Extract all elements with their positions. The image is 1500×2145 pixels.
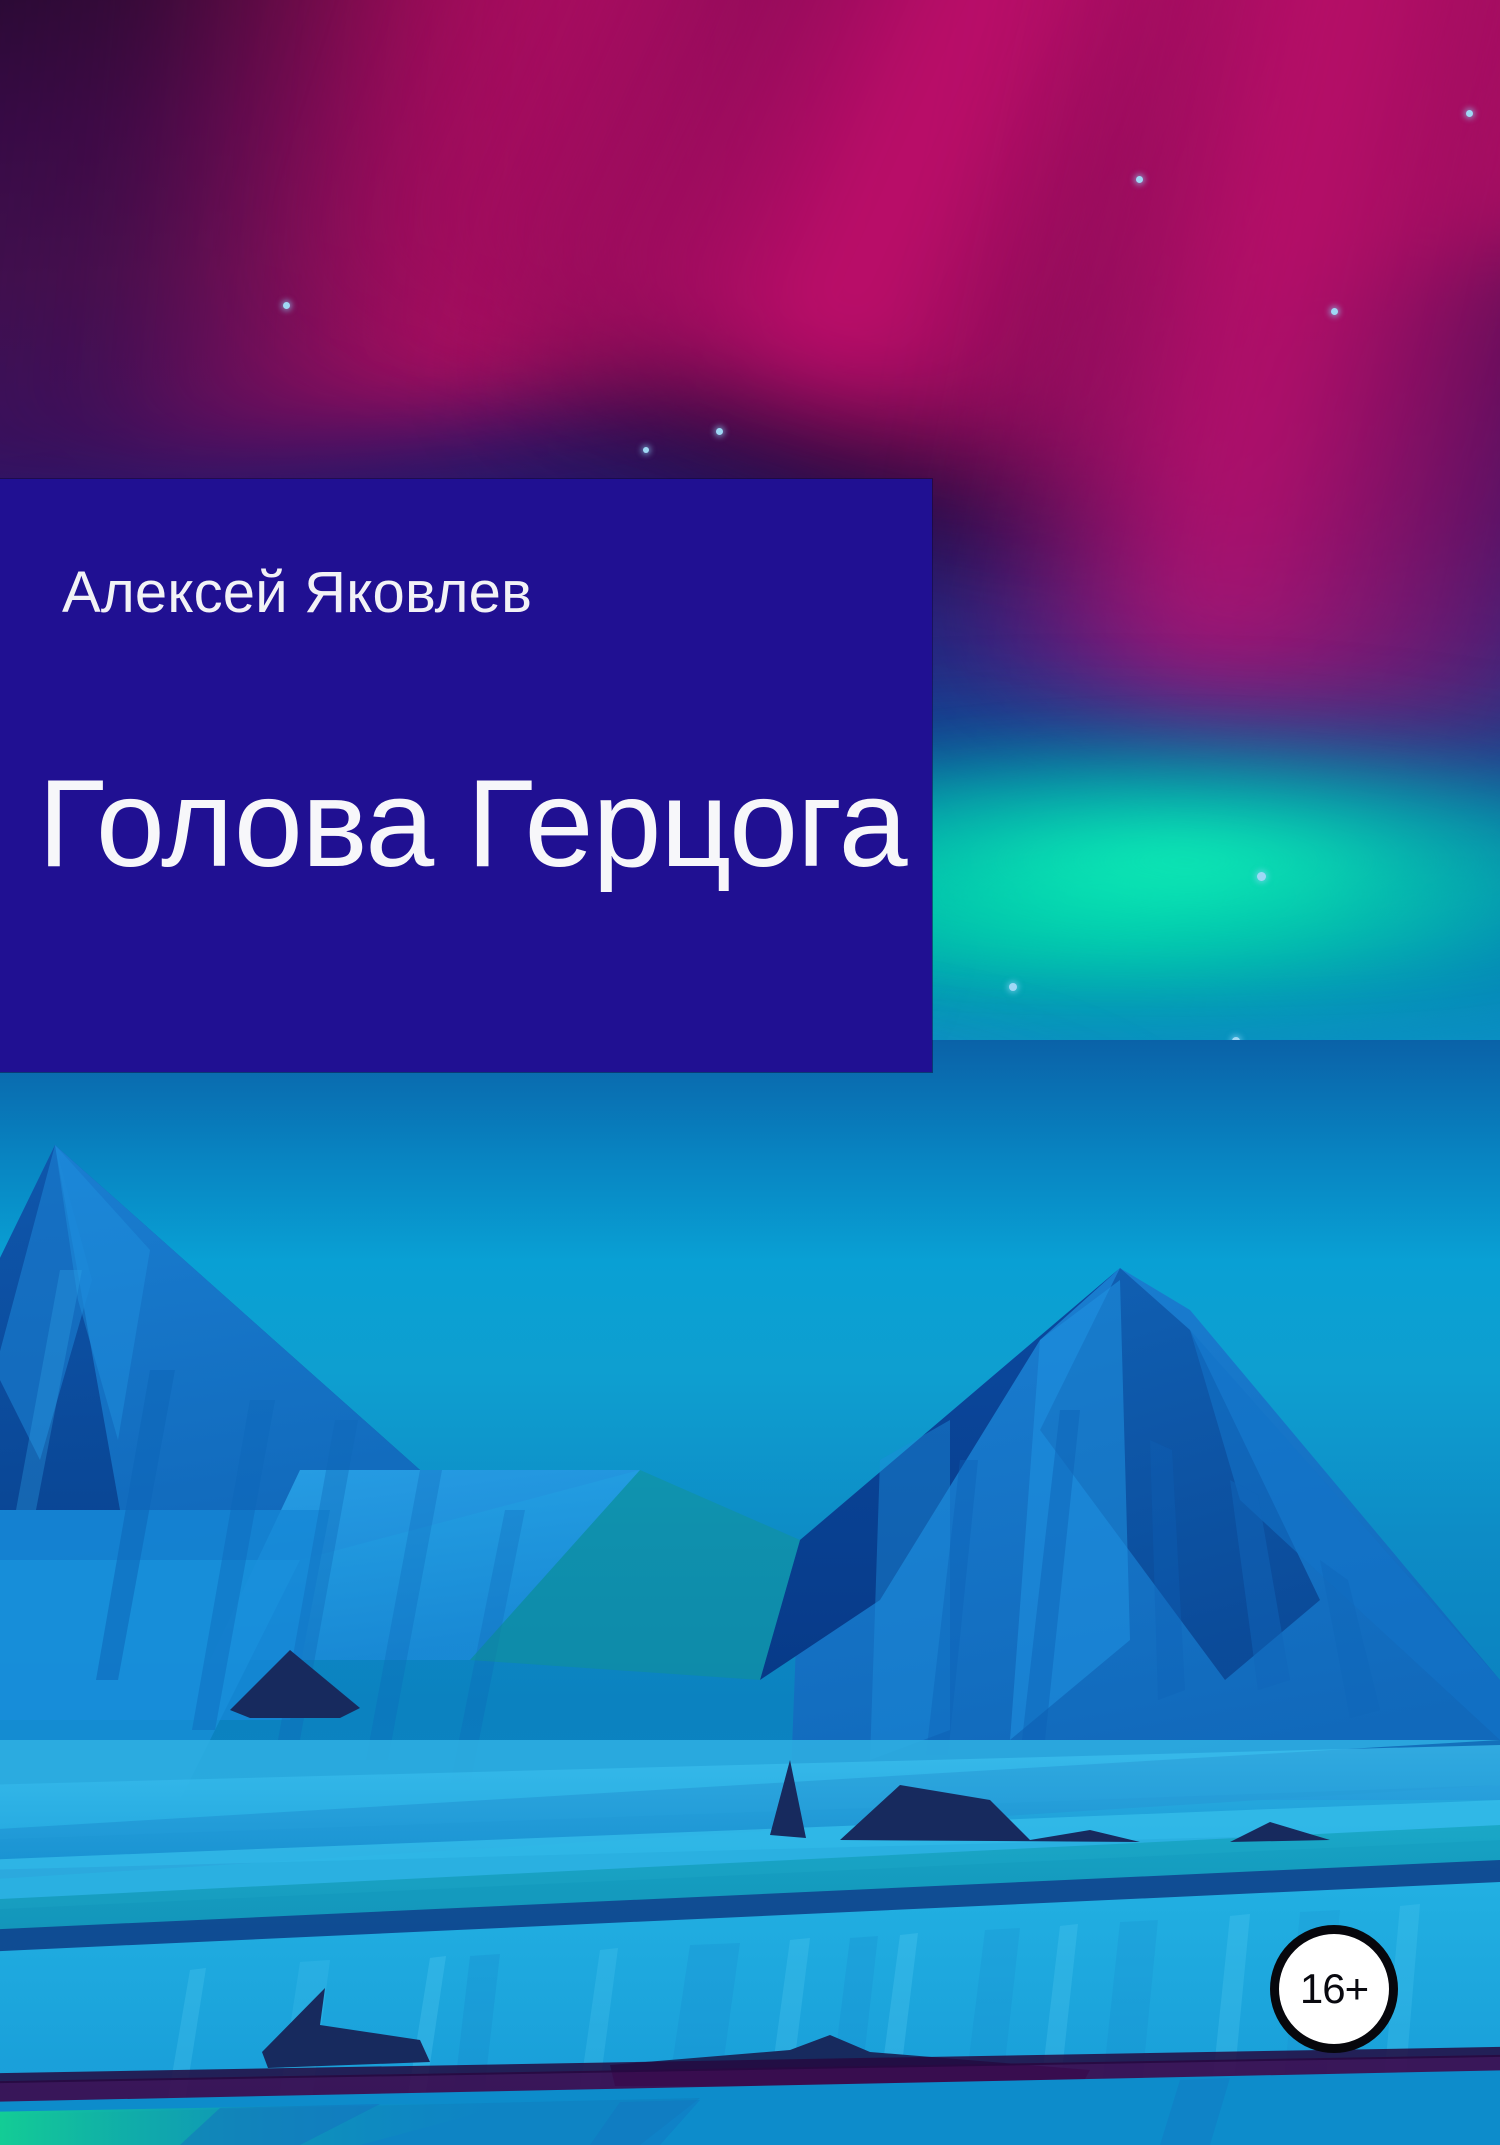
title-panel: Алексей Яковлев Голова Герцога <box>0 479 932 1072</box>
author-name: Алексей Яковлев <box>62 559 532 626</box>
star-dot <box>1331 308 1338 315</box>
right-mountain <box>760 1268 1500 1800</box>
star-dot <box>1009 983 1017 991</box>
star-dot <box>643 447 649 453</box>
book-title: Голова Герцога <box>38 759 907 889</box>
book-cover: Алексей Яковлев Голова Герцога 16+ <box>0 0 1500 2145</box>
star-dot <box>283 302 290 309</box>
age-rating-label: 16+ <box>1300 1965 1368 2013</box>
star-dot <box>1466 110 1473 117</box>
star-dot <box>716 428 723 435</box>
star-dot <box>1257 872 1266 881</box>
age-rating-badge: 16+ <box>1270 1925 1398 2053</box>
star-dot <box>1136 176 1143 183</box>
